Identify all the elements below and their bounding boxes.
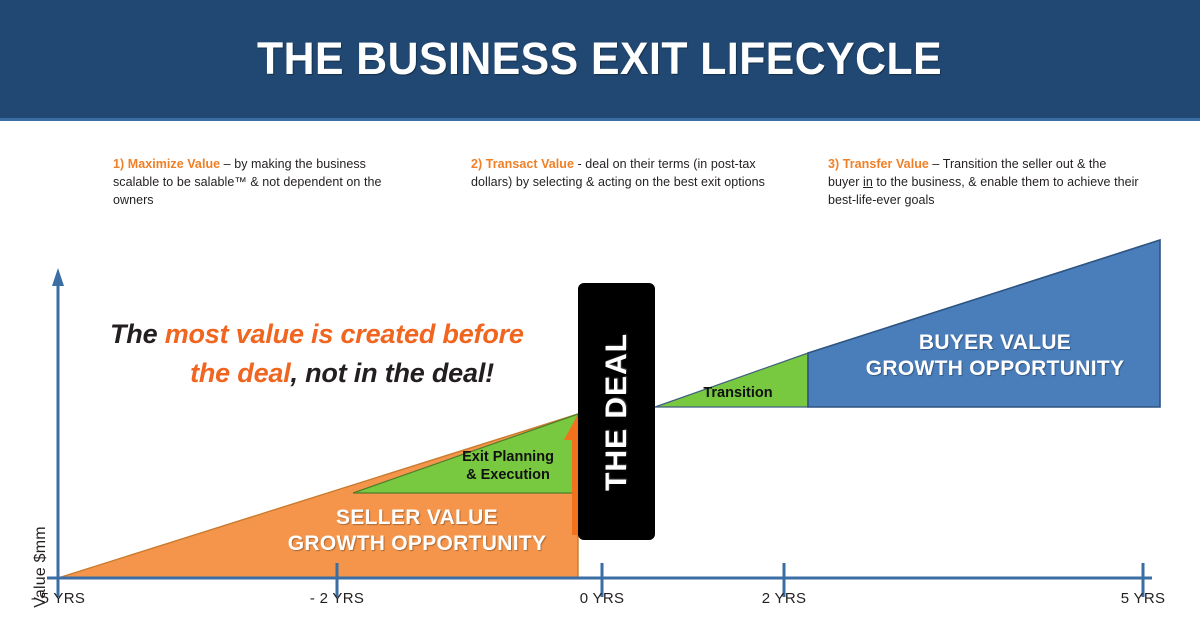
exit-planning-label: Exit Planning & Execution — [443, 448, 573, 484]
transition-label: Transition — [668, 385, 808, 401]
quote-highlight-2: the deal — [190, 358, 290, 388]
y-axis — [52, 268, 64, 578]
exit-planning-label-line1: Exit Planning — [443, 448, 573, 466]
quote-highlight-1: most value is created before — [165, 319, 524, 349]
the-deal-label: THE DEAL — [578, 283, 655, 540]
x-tick-label-two: 2 YRS — [739, 590, 829, 607]
headline-quote: The most value is created before the dea… — [110, 315, 540, 393]
buyer-value-label-line1: BUYER VALUE — [830, 330, 1160, 356]
x-tick-label-zero: 0 YRS — [557, 590, 647, 607]
x-tick-label-five: 5 YRS — [1098, 590, 1188, 607]
quote-part-1: The — [110, 319, 165, 349]
x-tick-label-minus5: - 5 YRS — [13, 590, 103, 607]
exit-planning-label-line2: & Execution — [443, 466, 573, 484]
buyer-value-label-line2: GROWTH OPPORTUNITY — [830, 356, 1160, 382]
quote-part-2: , not in the deal! — [291, 358, 494, 388]
page-title: THE BUSINESS EXIT LIFECYCLE — [257, 33, 942, 85]
x-tick-label-minus2: - 2 YRS — [292, 590, 382, 607]
seller-value-label: SELLER VALUE GROWTH OPPORTUNITY — [247, 505, 587, 558]
seller-value-label-line2: GROWTH OPPORTUNITY — [247, 531, 587, 557]
buyer-value-label: BUYER VALUE GROWTH OPPORTUNITY — [830, 330, 1160, 383]
the-deal-label-text: THE DEAL — [600, 333, 634, 491]
page-header: THE BUSINESS EXIT LIFECYCLE — [0, 0, 1200, 118]
seller-value-label-line1: SELLER VALUE — [247, 505, 587, 531]
